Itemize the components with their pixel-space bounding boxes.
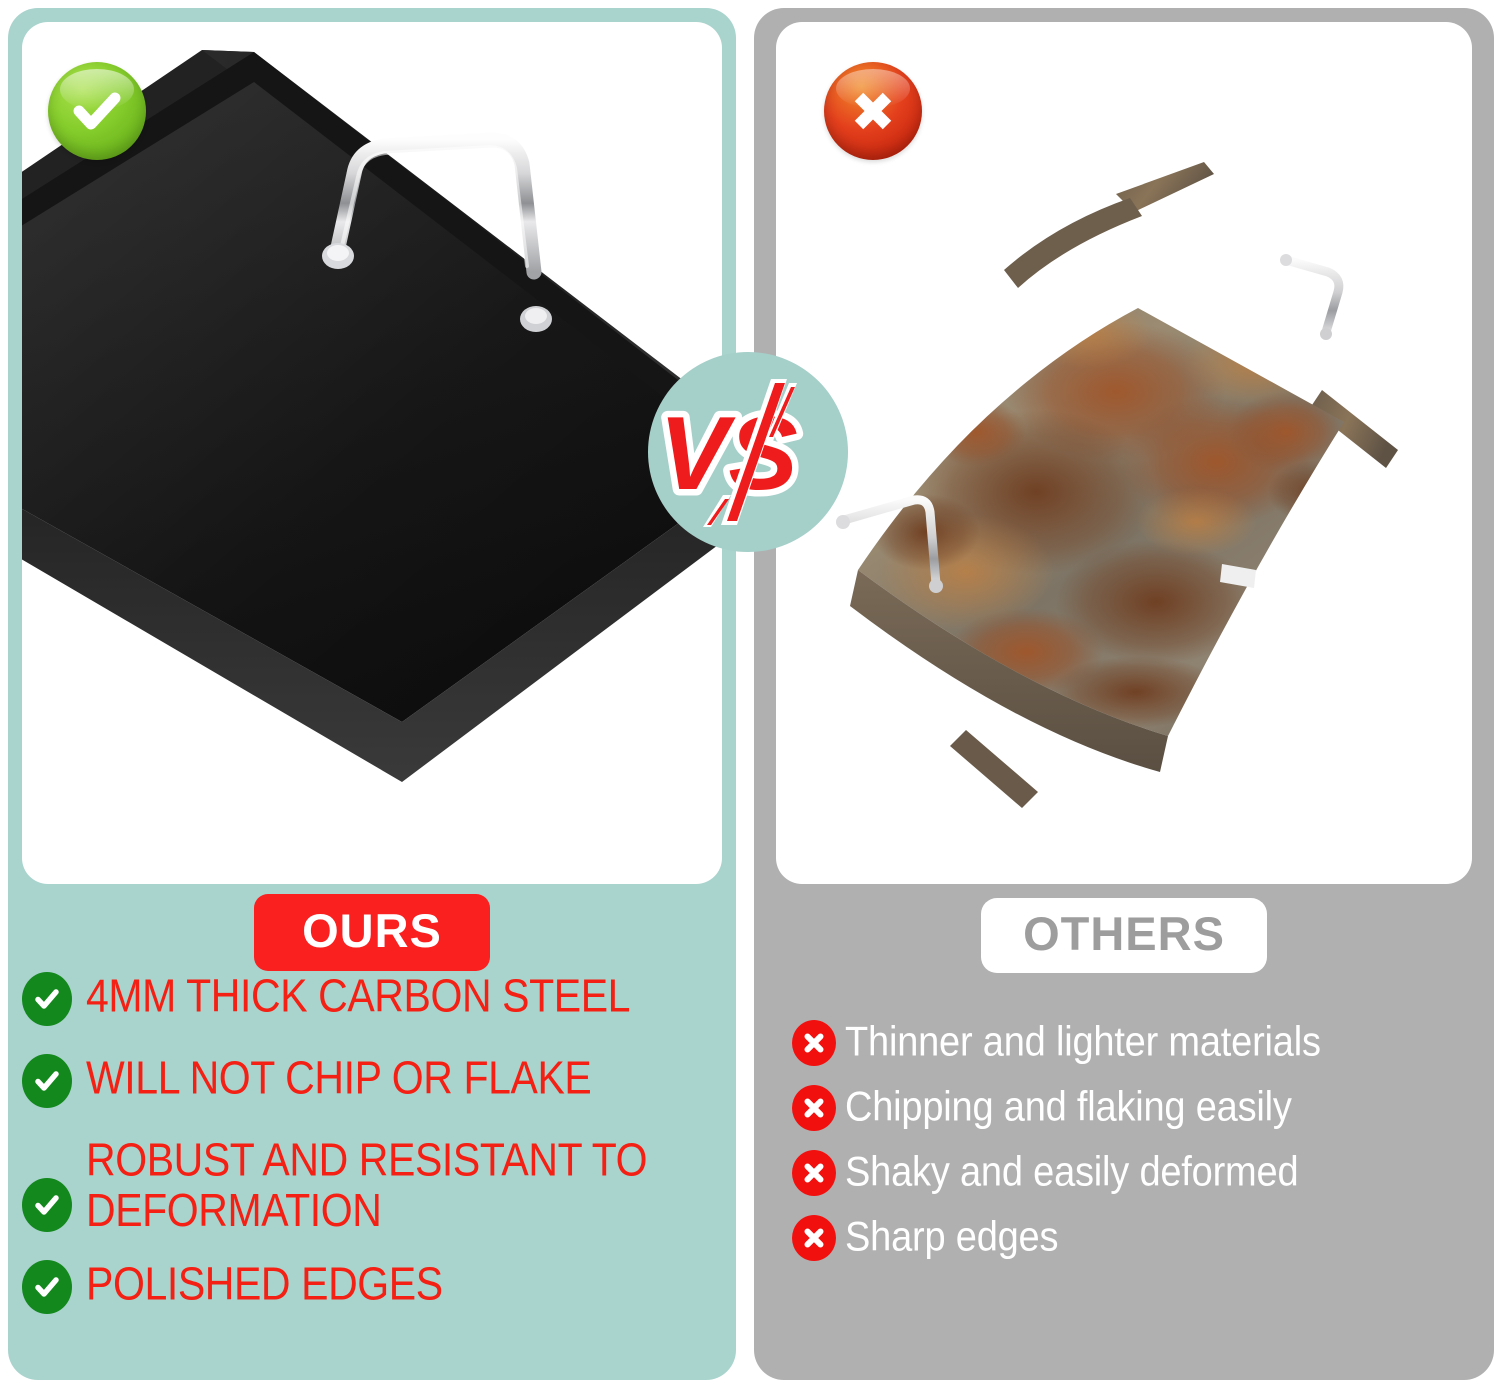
list-item: WILL NOT CHIP OR FLAKE	[22, 1052, 736, 1108]
list-item-label: Thinner and lighter materials	[845, 1018, 1321, 1065]
list-item: ROBUST AND RESISTANT TO DEFORMATION	[22, 1134, 736, 1232]
others-product-image-card	[776, 22, 1472, 884]
others-feature-list: Thinner and lighter materials Chipping a…	[754, 1018, 1494, 1278]
others-panel: OTHERS Thinner and lighter materials Chi…	[754, 8, 1494, 1380]
ours-feature-list: 4MM THICK CARBON STEEL WILL NOT CHIP OR …	[8, 970, 736, 1340]
check-circle-icon	[22, 1178, 72, 1232]
others-heading-row: OTHERS	[754, 898, 1494, 973]
red-cross-circle-icon	[824, 62, 922, 160]
ours-product-illustration	[22, 22, 722, 884]
ours-heading-row: OURS	[8, 894, 736, 971]
list-item-label: ROBUST AND RESISTANT TO DEFORMATION	[86, 1134, 686, 1236]
list-item: Thinner and lighter materials	[792, 1018, 1494, 1066]
black-griddle-icon	[22, 22, 722, 884]
list-item: 4MM THICK CARBON STEEL	[22, 970, 736, 1026]
ours-panel: OURS 4MM THICK CARBON STEEL WILL NOT CHI…	[8, 8, 736, 1380]
vs-badge: VS VS	[648, 352, 848, 552]
cross-circle-icon	[792, 1085, 836, 1131]
comparison-layout: OURS 4MM THICK CARBON STEEL WILL NOT CHI…	[0, 0, 1500, 1388]
list-item-label: Shaky and easily deformed	[845, 1148, 1298, 1195]
cross-circle-icon	[792, 1150, 836, 1196]
list-item-label: WILL NOT CHIP OR FLAKE	[86, 1052, 591, 1104]
ours-heading-badge: OURS	[254, 894, 490, 971]
green-check-circle-icon	[48, 62, 146, 160]
cross-circle-icon	[792, 1215, 836, 1261]
list-item-label: Chipping and flaking easily	[845, 1083, 1292, 1130]
others-heading-badge: OTHERS	[981, 898, 1267, 973]
list-item: Shaky and easily deformed	[792, 1148, 1494, 1196]
check-circle-icon	[22, 1260, 72, 1314]
list-item-label: Sharp edges	[845, 1213, 1058, 1260]
list-item: POLISHED EDGES	[22, 1258, 736, 1314]
cross-circle-icon	[792, 1020, 836, 1066]
ours-product-image-card	[22, 22, 722, 884]
vs-logo-icon: VS VS	[653, 377, 843, 527]
check-circle-icon	[22, 1054, 72, 1108]
list-item: Chipping and flaking easily	[792, 1083, 1494, 1131]
list-item: Sharp edges	[792, 1213, 1494, 1261]
list-item-label: POLISHED EDGES	[86, 1258, 443, 1310]
check-circle-icon	[22, 972, 72, 1026]
list-item-label: 4MM THICK CARBON STEEL	[86, 970, 630, 1022]
